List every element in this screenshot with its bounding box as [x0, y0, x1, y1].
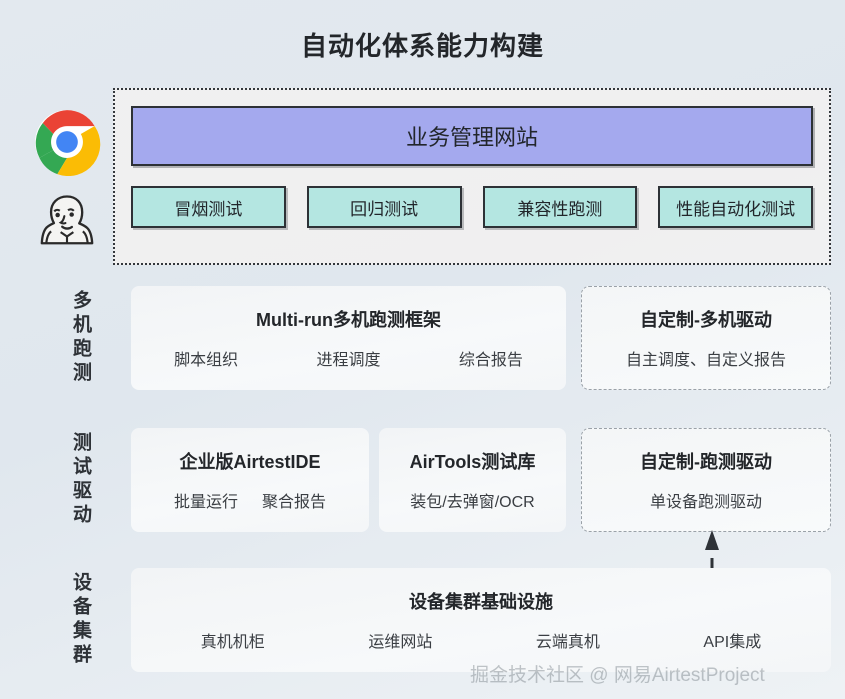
card-item: 装包/去弹窗/OCR	[410, 488, 534, 512]
stage-label-device-cluster: 设备集群	[48, 568, 90, 672]
card-item: 综合报告	[459, 346, 523, 370]
test-chip-compat[interactable]: 兼容性跑测	[483, 186, 638, 228]
chrome-icon	[33, 108, 101, 176]
card-item: 云端真机	[536, 628, 600, 652]
business-management-site-bar[interactable]: 业务管理网站	[131, 106, 813, 166]
card-multirun-framework[interactable]: Multi-run多机跑测框架 脚本组织 进程调度 综合报告	[131, 286, 566, 390]
card-item: 单设备跑测驱动	[650, 488, 762, 512]
card-title: 设备集群基础设施	[409, 588, 553, 614]
page-title: 自动化体系能力构建	[0, 26, 845, 63]
card-item: 运维网站	[368, 628, 432, 652]
test-chip-performance[interactable]: 性能自动化测试	[658, 186, 813, 228]
card-items: 装包/去弹窗/OCR	[410, 488, 534, 512]
test-chip-smoke[interactable]: 冒烟测试	[131, 186, 286, 228]
jenkins-icon	[33, 188, 101, 256]
card-airtools-library[interactable]: AirTools测试库 装包/去弹窗/OCR	[379, 428, 566, 532]
card-custom-multi-device-driver[interactable]: 自定制-多机驱动 自主调度、自定义报告	[581, 286, 831, 390]
card-items: 单设备跑测驱动	[650, 488, 762, 512]
card-title: 自定制-跑测驱动	[640, 448, 772, 474]
card-title: 自定制-多机驱动	[640, 306, 772, 332]
card-item: 聚合报告	[262, 488, 326, 512]
card-items: 脚本组织 进程调度 综合报告	[131, 346, 566, 370]
card-items: 真机机柜 运维网站 云端真机 API集成	[131, 628, 831, 652]
card-item: 自主调度、自定义报告	[626, 346, 786, 370]
card-item: 脚本组织	[174, 346, 238, 370]
card-item: API集成	[703, 628, 761, 652]
icon-rail	[33, 108, 105, 268]
card-title: Multi-run多机跑测框架	[256, 306, 441, 332]
card-item: 进程调度	[316, 346, 380, 370]
stage-label-test-driver: 测试驱动	[48, 428, 90, 532]
card-item: 批量运行	[174, 488, 238, 512]
business-layer-container: 业务管理网站 冒烟测试 回归测试 兼容性跑测 性能自动化测试	[113, 88, 831, 265]
card-items: 批量运行 聚合报告	[174, 488, 326, 512]
card-title: 企业版AirtestIDE	[179, 448, 320, 474]
test-chip-regression[interactable]: 回归测试	[307, 186, 462, 228]
card-custom-run-driver[interactable]: 自定制-跑测驱动 单设备跑测驱动	[581, 428, 831, 532]
card-title: AirTools测试库	[410, 448, 536, 474]
card-items: 自主调度、自定义报告	[626, 346, 786, 370]
card-airtest-ide-enterprise[interactable]: 企业版AirtestIDE 批量运行 聚合报告	[131, 428, 369, 532]
card-device-cluster-infrastructure[interactable]: 设备集群基础设施 真机机柜 运维网站 云端真机 API集成	[131, 568, 831, 672]
stage-label-multi-device: 多机跑测	[48, 286, 90, 390]
test-type-row: 冒烟测试 回归测试 兼容性跑测 性能自动化测试	[131, 186, 813, 228]
card-item: 真机机柜	[201, 628, 265, 652]
